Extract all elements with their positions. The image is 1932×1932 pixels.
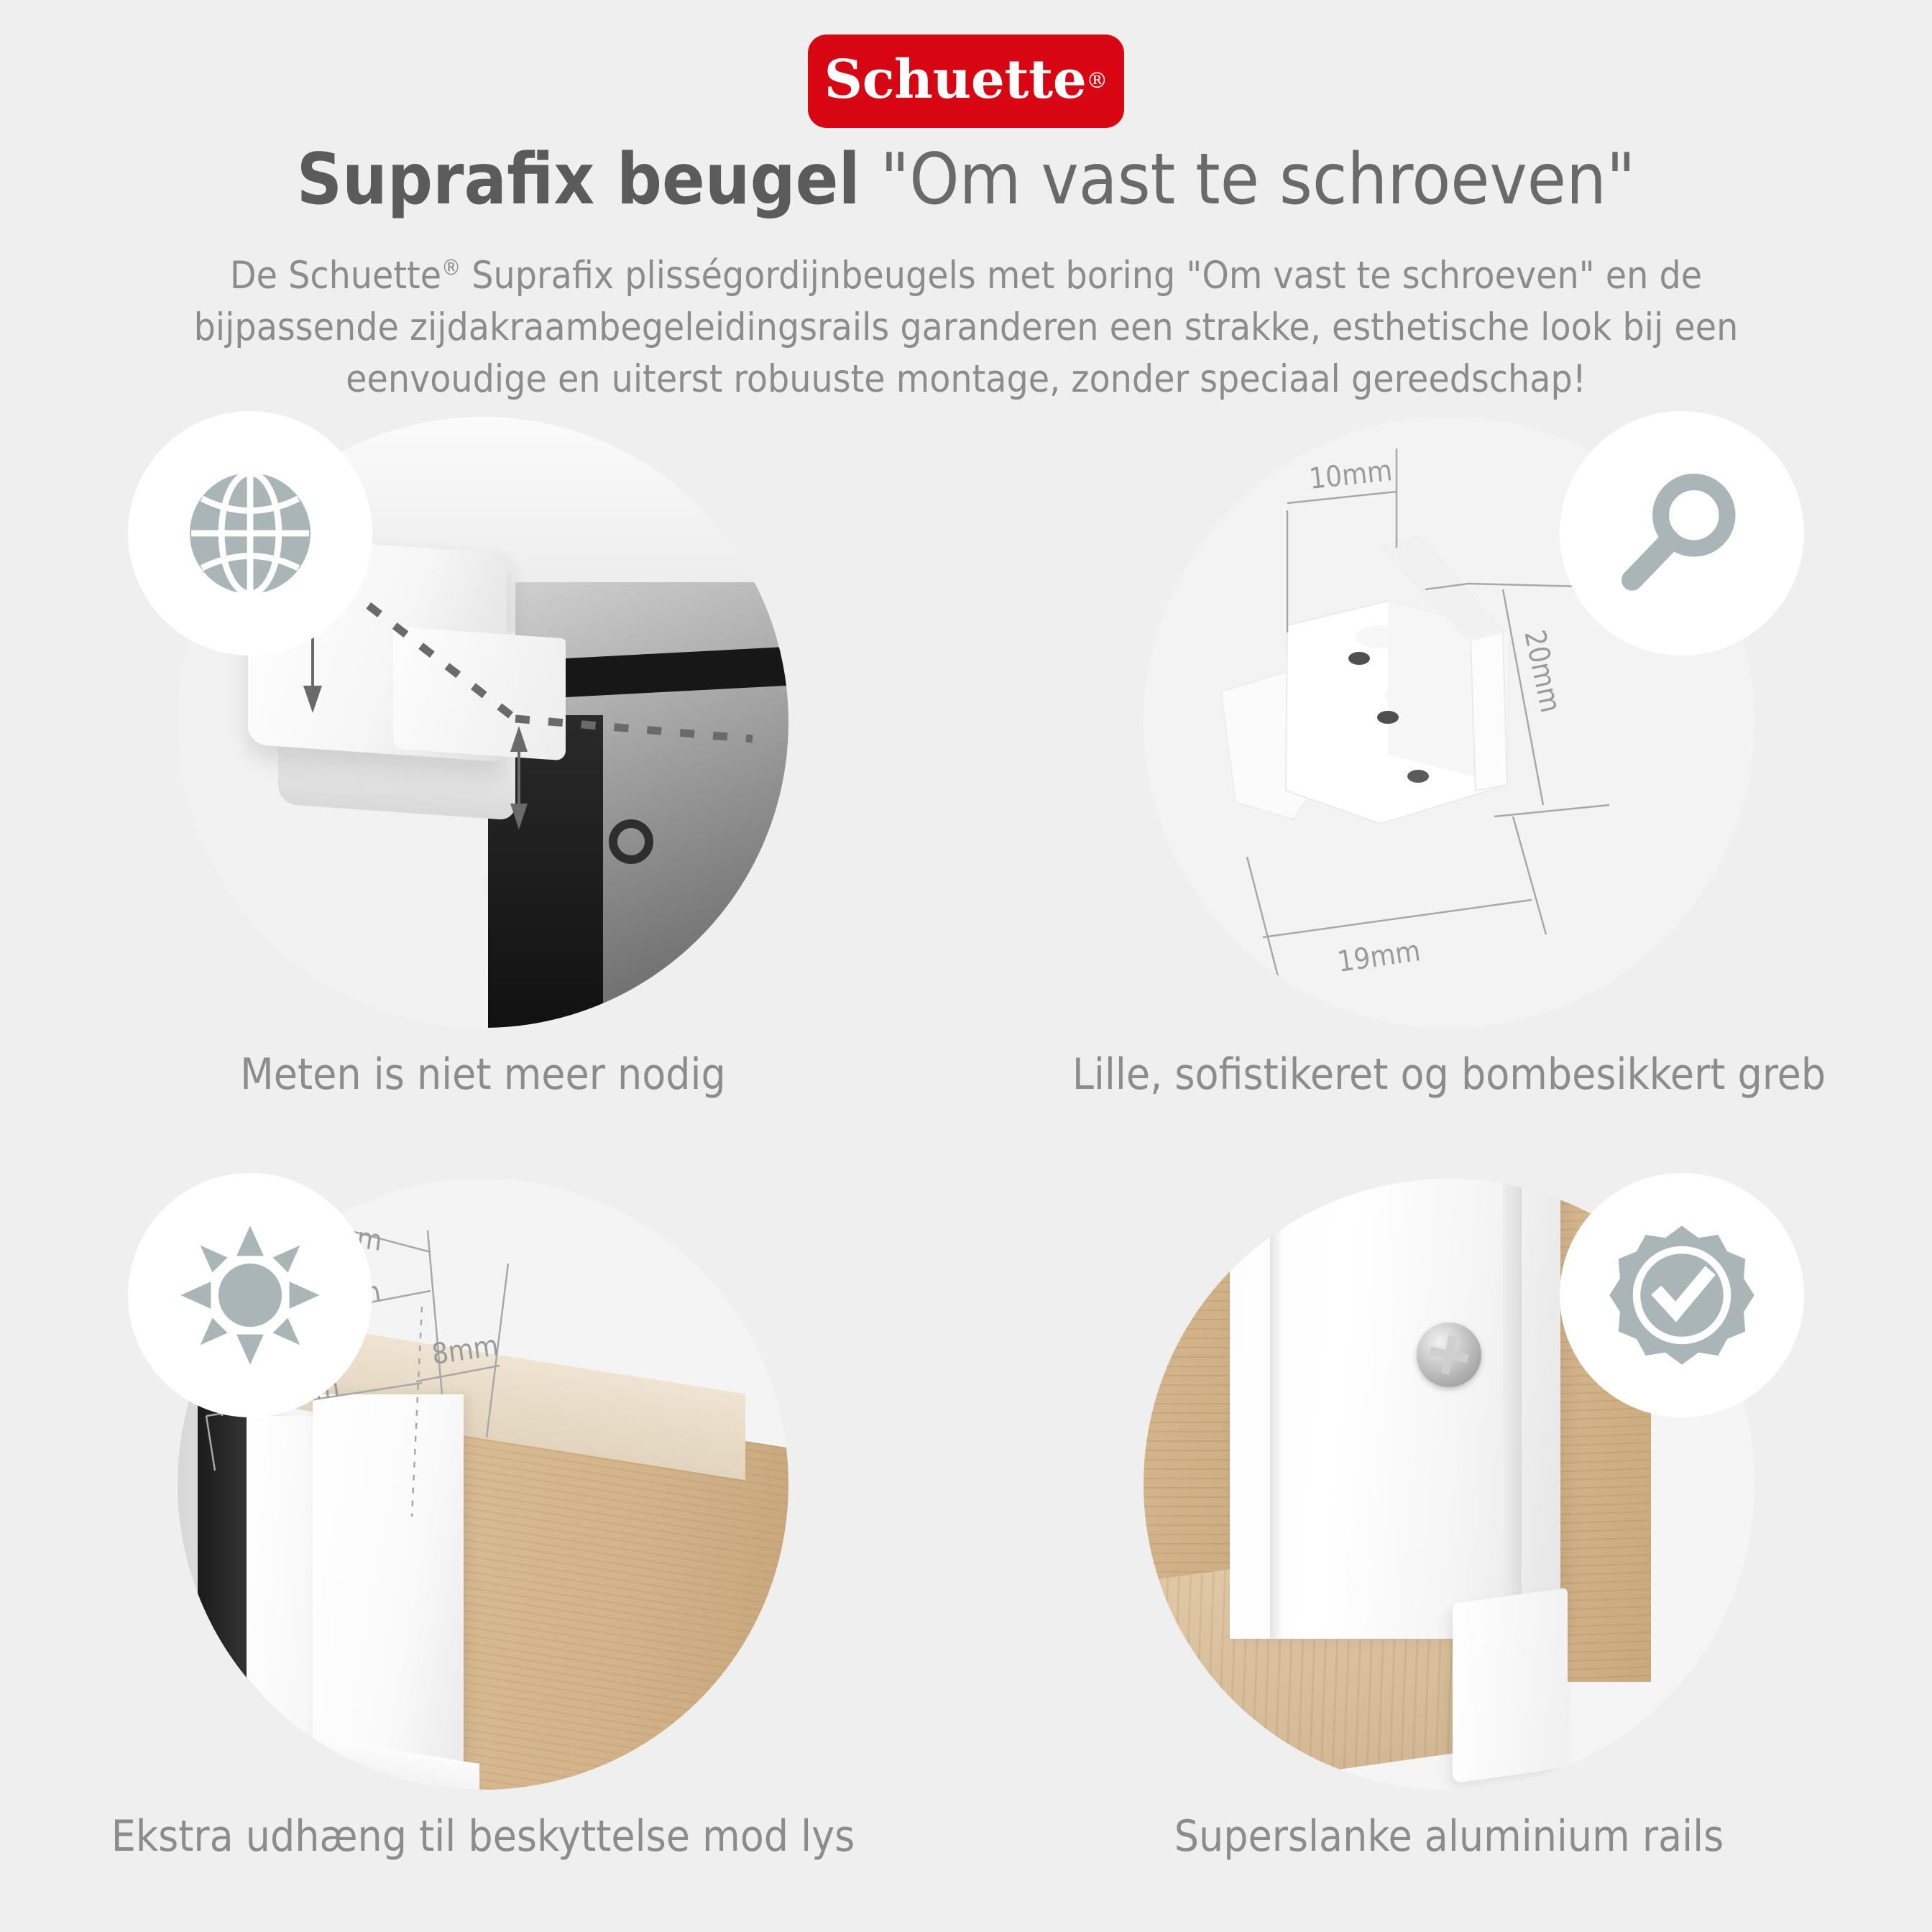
badge-quality-seal <box>1560 1173 1804 1417</box>
feature-caption-small-bracket: Lille, sofistikeret og bombesikkert greb <box>966 1049 1932 1100</box>
page-title: Suprafix beugel "Om vast te schroeven" <box>0 141 1932 220</box>
brand-logo-text: Schuette <box>824 53 1087 106</box>
feature-grid: Meten is niet meer nodig <box>0 402 1932 1932</box>
feature-cell-small-bracket: 10mm 20mm 19mm <box>966 402 1932 1164</box>
description-registered-mark: ® <box>441 255 461 280</box>
globe-icon <box>175 458 326 609</box>
magnifier-icon <box>1606 458 1757 609</box>
badge-magnifier <box>1560 411 1804 655</box>
feature-caption-light-protection: Ekstra udhæng til beskyttelse mod lys <box>0 1811 966 1862</box>
feature-cell-no-measuring: Meten is niet meer nodig <box>0 402 966 1164</box>
page-title-light: "Om vast te schroeven" <box>880 139 1636 221</box>
badge-sun <box>128 1173 372 1417</box>
check-badge-icon <box>1606 1220 1757 1371</box>
infographic-page: Schuette® Suprafix beugel "Om vast te sc… <box>0 0 1932 1932</box>
feature-cell-light-protection: 27mm 30mm 8mm 22mm <box>0 1164 966 1926</box>
page-title-strong: Suprafix beugel <box>297 139 860 221</box>
feature-caption-slim-rails: Superslanke aluminium rails <box>966 1811 1932 1862</box>
description-line-1: De Schuette <box>230 254 441 298</box>
feature-caption-no-measuring: Meten is niet meer nodig <box>0 1049 966 1100</box>
mounting-screw <box>1417 1322 1481 1387</box>
badge-globe <box>128 411 372 655</box>
feature-cell-slim-rails: Superslanke aluminium rails <box>966 1164 1932 1926</box>
sun-icon <box>175 1220 326 1371</box>
dimension-label-19mm: 19mm <box>1335 934 1422 979</box>
brand-logo: Schuette® <box>808 34 1124 128</box>
dimension-label-20mm: 20mm <box>1517 627 1567 716</box>
description-line-3: en uiterst robuuste montage, zonder spec… <box>558 357 1586 401</box>
dimension-label-10mm: 10mm <box>1307 454 1394 496</box>
page-description: De Schuette® Suprafix plisségordijnbeuge… <box>129 250 1803 405</box>
dimension-label-8mm: 8mm <box>430 1329 501 1371</box>
registered-trademark-icon: ® <box>1086 70 1108 92</box>
